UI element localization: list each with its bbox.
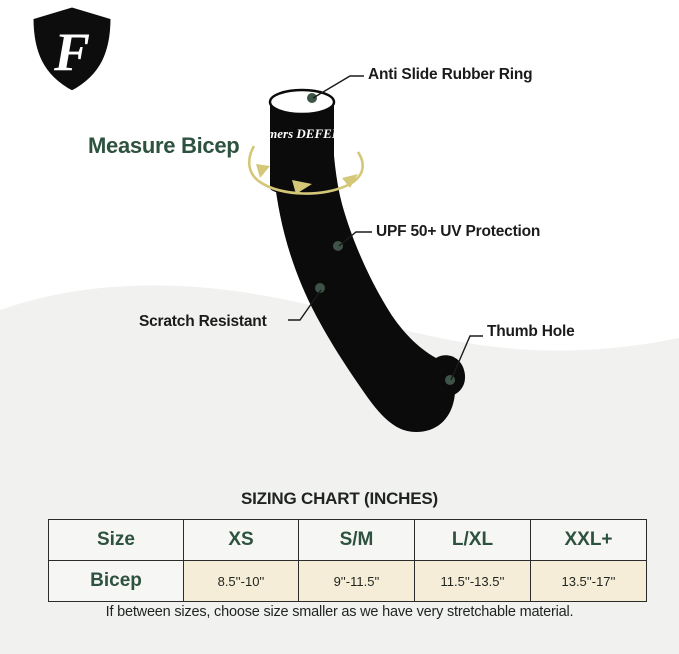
callout-anti-slide-rubber-ring: Anti Slide Rubber Ring [368, 67, 532, 83]
sizing-chart-table: Size XS S/M L/XL XXL+ Bicep 8.5''-10'' 9… [48, 519, 647, 602]
table-header-xxl: XXL+ [531, 520, 647, 561]
sizing-infographic: F Farmers DEFENSE Anti [0, 0, 679, 654]
table-header-size: Size [49, 520, 184, 561]
table-cell-bicep-xxl: 13.5''-17'' [531, 561, 647, 602]
logo-letter: F [53, 22, 90, 82]
sizing-chart-title: SIZING CHART (INCHES) [0, 489, 679, 509]
table-cell-bicep-lxl: 11.5''-13.5'' [415, 561, 531, 602]
callout-scratch-resistant: Scratch Resistant [139, 314, 267, 330]
cuff-opening [270, 90, 334, 114]
table-cell-bicep-sm: 9''-11.5'' [299, 561, 415, 602]
table-cell-bicep-xs: 8.5''-10'' [184, 561, 299, 602]
callout-thumb-hole: Thumb Hole [487, 324, 575, 340]
sleeve-cuff [270, 102, 334, 196]
sleeve-wordmark: Farmers DEFENSE [246, 126, 357, 141]
shield-logo-icon: F [28, 4, 116, 94]
measure-bicep-label: Measure Bicep [88, 135, 239, 157]
table-header-lxl: L/XL [415, 520, 531, 561]
table-row-label-bicep: Bicep [49, 561, 184, 602]
sizing-note: If between sizes, choose size smaller as… [0, 604, 679, 620]
table-header-xs: XS [184, 520, 299, 561]
marker-dot-thumb-hole [445, 375, 455, 385]
arm-sleeve-illustration: Farmers DEFENSE [240, 80, 500, 440]
table-header-sm: S/M [299, 520, 415, 561]
table-header-row: Size XS S/M L/XL XXL+ [49, 520, 647, 561]
marker-dot-scratch [315, 283, 325, 293]
marker-dot-rubber-ring [307, 93, 317, 103]
table-row: Bicep 8.5''-10'' 9''-11.5'' 11.5''-13.5'… [49, 561, 647, 602]
callout-upf-uv-protection: UPF 50+ UV Protection [376, 224, 540, 240]
marker-dot-upf [333, 241, 343, 251]
